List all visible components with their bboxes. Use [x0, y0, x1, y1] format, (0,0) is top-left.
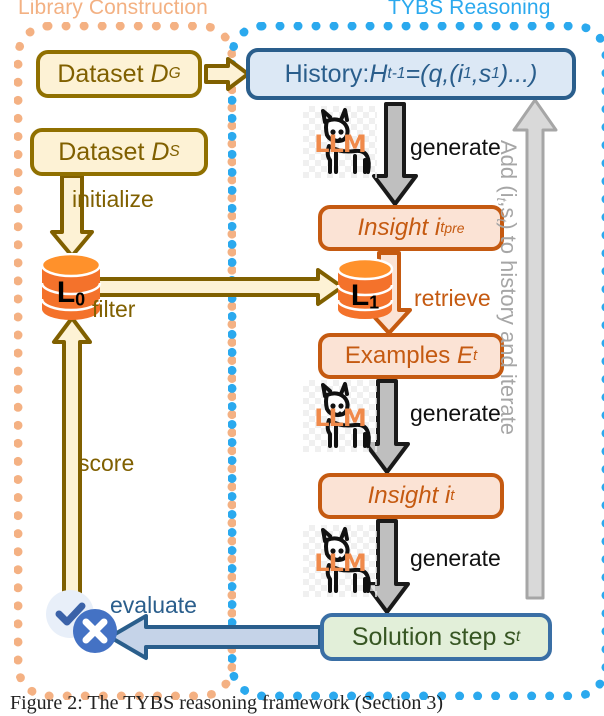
llm-icon-label: LLM: [303, 404, 377, 432]
library-l1-label: L1: [336, 279, 394, 314]
node-solution-step[interactable]: Solution step st: [320, 613, 552, 661]
node-dataset-ds-label: Dataset: [58, 138, 144, 167]
node-dataset-ds-subscript: S: [169, 143, 179, 161]
arrow-datasetg-to-history: [206, 59, 248, 89]
node-insight-t[interactable]: Insight it: [318, 473, 504, 519]
node-history-sub3: 1: [491, 65, 500, 83]
node-history[interactable]: History: Ht-1=(q,(i1,s1)...): [246, 48, 576, 100]
node-examples-symbol: E: [457, 342, 473, 370]
node-examples[interactable]: Examples Et: [318, 333, 504, 379]
node-insight-t-label: Insight: [368, 482, 439, 510]
llama-llm-icon: LLM: [303, 106, 377, 178]
edge-label-generate-3: generate: [410, 545, 501, 572]
node-history-rest: =(q,(i: [406, 60, 464, 89]
node-dataset-dg-subscript: G: [169, 65, 181, 83]
node-dataset-ds[interactable]: Dataset DS: [30, 128, 208, 176]
node-dataset-dg-symbol: D: [151, 60, 169, 89]
edge-label-filter: filter: [92, 296, 135, 323]
edge-label-score: score: [78, 450, 134, 477]
node-examples-subscript: t: [473, 348, 477, 364]
edge-label-initialize: initialize: [72, 186, 154, 213]
edge-label-evaluate: evaluate: [110, 592, 197, 619]
llm-icon-label: LLM: [303, 549, 377, 577]
library-l1-database[interactable]: L1: [336, 258, 394, 320]
node-insight-pre[interactable]: Insight itpre: [318, 205, 504, 251]
node-dataset-dg[interactable]: Dataset DG: [36, 50, 202, 98]
loop-mid: ,s: [496, 201, 521, 218]
node-solution-step-subscript: t: [516, 628, 520, 646]
node-history-sub2: 1: [463, 65, 472, 83]
node-solution-step-symbol: s: [503, 623, 516, 652]
node-history-rest2: ,s: [472, 60, 491, 89]
node-examples-label: Examples: [345, 342, 450, 370]
edge-label-generate-1: generate: [410, 134, 501, 161]
node-history-symbol: H: [369, 60, 387, 89]
node-solution-step-label: Solution step: [352, 623, 497, 652]
node-insight-t-subscript: t: [450, 488, 454, 504]
node-dataset-ds-symbol: D: [151, 138, 169, 167]
llama-llm-icon: LLM: [303, 380, 377, 452]
node-history-rest3: )...): [500, 60, 538, 89]
edge-label-add-to-history: Add (it,st) to history and iterate: [494, 140, 521, 560]
llama-llm-icon: LLM: [303, 525, 377, 597]
edge-label-retrieve: retrieve: [414, 285, 491, 312]
arrow-evaluate: [110, 616, 320, 658]
node-insight-pre-label: Insight: [358, 214, 429, 242]
edge-label-generate-2: generate: [410, 400, 501, 427]
figure-canvas: Library Construction TYBS Reasoning: [0, 0, 604, 716]
node-history-subscript: t-1: [387, 65, 405, 83]
figure-caption: Figure 2: The TYBS reasoning framework (…: [10, 692, 594, 715]
node-dataset-dg-label: Dataset: [57, 60, 143, 89]
llm-icon-label: LLM: [303, 130, 377, 158]
loop-post: ) to history and iterate: [496, 222, 521, 435]
node-insight-pre-superscript: pre: [444, 220, 464, 236]
loop-pre: Add (i: [496, 140, 521, 197]
node-history-prefix: History:: [285, 60, 370, 89]
